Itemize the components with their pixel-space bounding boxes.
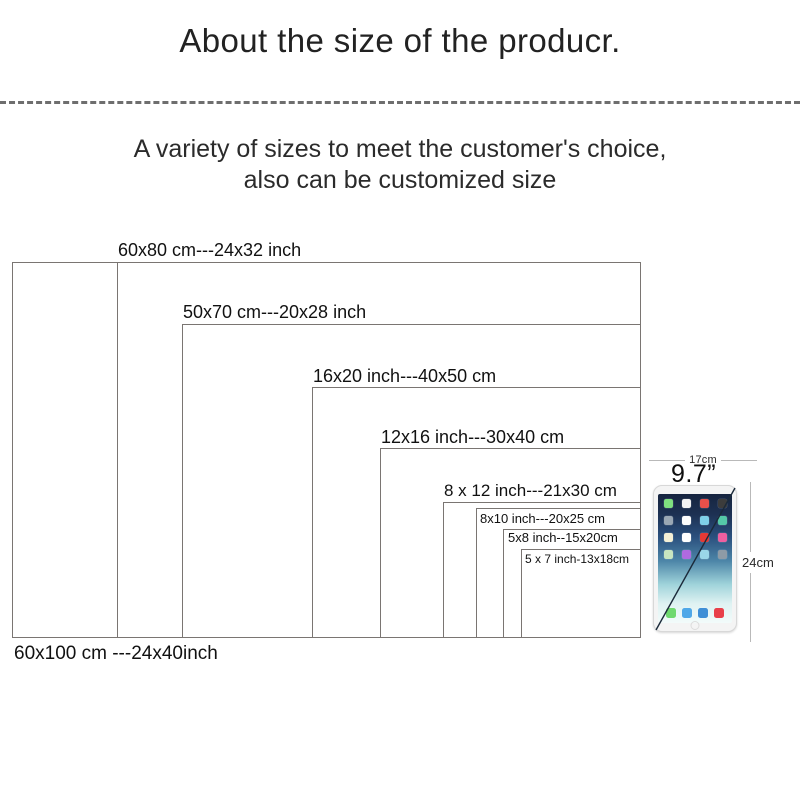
- app-icon-6: [682, 516, 691, 525]
- tablet-diagonal-label: 9.7”: [671, 462, 716, 487]
- app-icon-11: [700, 533, 709, 542]
- app-icon-1: [664, 499, 673, 508]
- size-label-40x50: 16x20 inch---40x50 cm: [313, 367, 496, 385]
- app-icon-16: [718, 550, 727, 559]
- app-icon-7: [700, 516, 709, 525]
- page-title: About the size of the producr.: [0, 22, 800, 60]
- tablet-height-label: 24cm: [741, 555, 774, 570]
- page-subtitle: A variety of sizes to meet the customer'…: [0, 134, 800, 196]
- tablet-screen: [658, 494, 732, 623]
- size-label-15x20: 5x8 inch--15x20cm: [508, 531, 618, 544]
- app-icon-14: [682, 550, 691, 559]
- size-label-60x80: 60x80 cm---24x32 inch: [118, 241, 301, 259]
- size-guide-page: About the size of the producr. A variety…: [0, 0, 800, 800]
- subtitle-line-1: A variety of sizes to meet the customer'…: [0, 134, 800, 165]
- app-icon-12: [718, 533, 727, 542]
- tablet-reference-block: 17cm 9.7” 24cm: [645, 450, 800, 650]
- dimension-line-top: [750, 482, 751, 552]
- app-icon-2: [682, 499, 691, 508]
- home-button-icon: [691, 621, 700, 630]
- dock-icon-4: [714, 608, 724, 618]
- app-icon-15: [700, 550, 709, 559]
- app-icon-13: [664, 550, 673, 559]
- app-icon-4: [718, 499, 727, 508]
- dock-icon-2: [682, 608, 692, 618]
- dimension-line-right: [721, 460, 757, 461]
- app-icon-3: [700, 499, 709, 508]
- app-icon-9: [664, 533, 673, 542]
- tablet-height-dimension: 24cm: [741, 482, 799, 642]
- dock-icon-1: [666, 608, 676, 618]
- subtitle-line-2: also can be customized size: [0, 165, 800, 196]
- size-label-50x70: 50x70 cm---20x28 inch: [183, 303, 366, 321]
- app-dock: [666, 608, 724, 618]
- app-icon-grid: [662, 499, 728, 561]
- app-icon-8: [718, 516, 727, 525]
- size-label-20x25: 8x10 inch---20x25 cm: [480, 512, 605, 525]
- size-label-13x18: 5 x 7 inch-13x18cm: [525, 553, 629, 565]
- app-icon-5: [664, 516, 673, 525]
- size-label-60x100: 60x100 cm ---24x40inch: [14, 643, 218, 665]
- dashed-divider: [0, 101, 800, 104]
- dock-icon-3: [698, 608, 708, 618]
- app-icon-10: [682, 533, 691, 542]
- size-label-30x40: 12x16 inch---30x40 cm: [381, 428, 564, 446]
- dimension-line-bottom: [750, 573, 751, 643]
- tablet-device: [653, 485, 737, 632]
- size-label-21x30: 8 x 12 inch---21x30 cm: [444, 482, 617, 499]
